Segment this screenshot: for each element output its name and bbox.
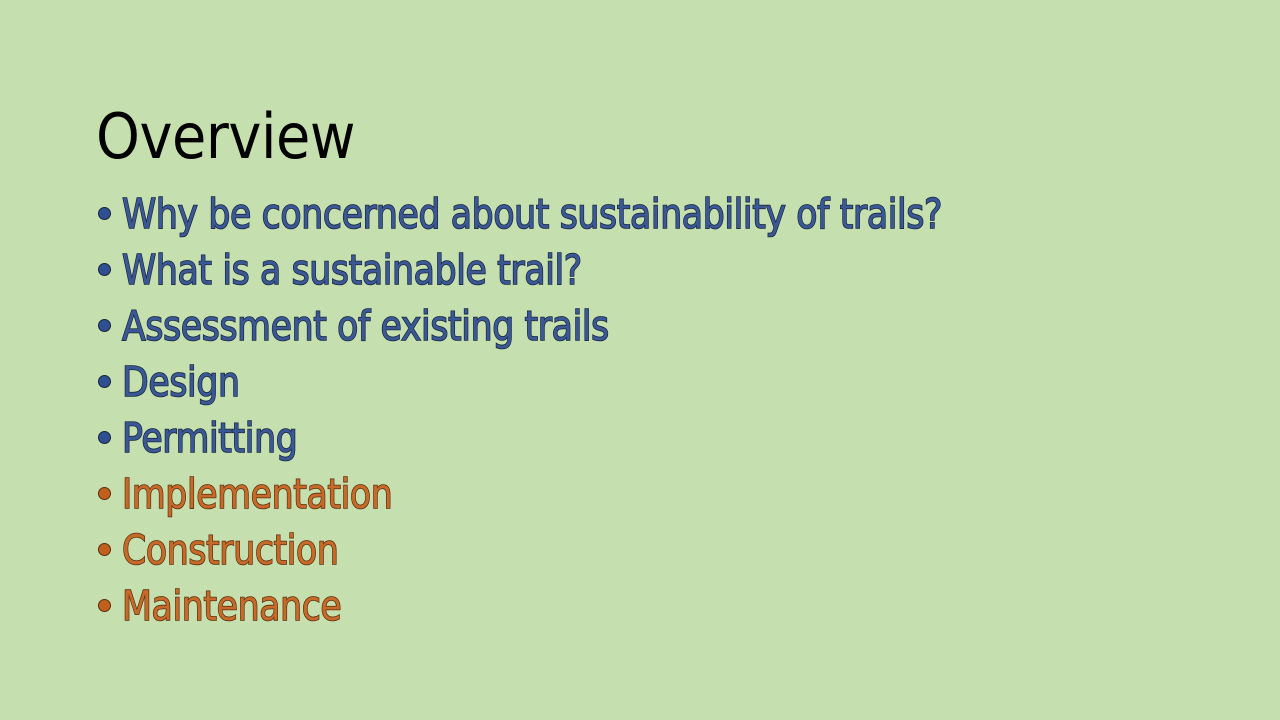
- overview-bullet-list: Why be concerned about sustainability of…: [96, 186, 1216, 634]
- list-item[interactable]: Design: [96, 354, 1216, 410]
- list-item[interactable]: Why be concerned about sustainability of…: [96, 186, 1216, 242]
- list-item-label: Assessment of existing trails: [122, 298, 609, 354]
- bullet-dot-icon: [96, 466, 122, 522]
- list-item[interactable]: Construction: [96, 522, 1216, 578]
- list-item[interactable]: Implementation: [96, 466, 1216, 522]
- bullet-dot-icon: [96, 522, 122, 578]
- list-item-label: Design: [122, 354, 240, 410]
- list-item-label: Maintenance: [122, 578, 341, 634]
- bullet-dot-glyph: [98, 599, 111, 612]
- list-item[interactable]: Permitting: [96, 410, 1216, 466]
- bullet-dot-icon: [96, 298, 122, 354]
- bullet-dot-glyph: [98, 543, 111, 556]
- bullet-dot-icon: [96, 578, 122, 634]
- bullet-dot-icon: [96, 410, 122, 466]
- list-item-label: Permitting: [122, 410, 297, 466]
- bullet-dot-icon: [96, 354, 122, 410]
- bullet-dot-glyph: [98, 487, 111, 500]
- bullet-dot-glyph: [98, 207, 111, 220]
- bullet-dot-icon: [96, 242, 122, 298]
- list-item-label: What is a sustainable trail?: [122, 242, 582, 298]
- page-title: Overview: [96, 104, 355, 169]
- list-item[interactable]: What is a sustainable trail?: [96, 242, 1216, 298]
- bullet-dot-glyph: [98, 319, 111, 332]
- bullet-dot-icon: [96, 186, 122, 242]
- list-item-label: Construction: [122, 522, 339, 578]
- list-item-label: Implementation: [122, 466, 392, 522]
- list-item[interactable]: Maintenance: [96, 578, 1216, 634]
- bullet-dot-glyph: [98, 375, 111, 388]
- list-item[interactable]: Assessment of existing trails: [96, 298, 1216, 354]
- bullet-dot-glyph: [98, 263, 111, 276]
- list-item-label: Why be concerned about sustainability of…: [122, 186, 942, 242]
- presentation-slide: Overview Why be concerned about sustaina…: [0, 0, 1280, 720]
- bullet-dot-glyph: [98, 431, 111, 444]
